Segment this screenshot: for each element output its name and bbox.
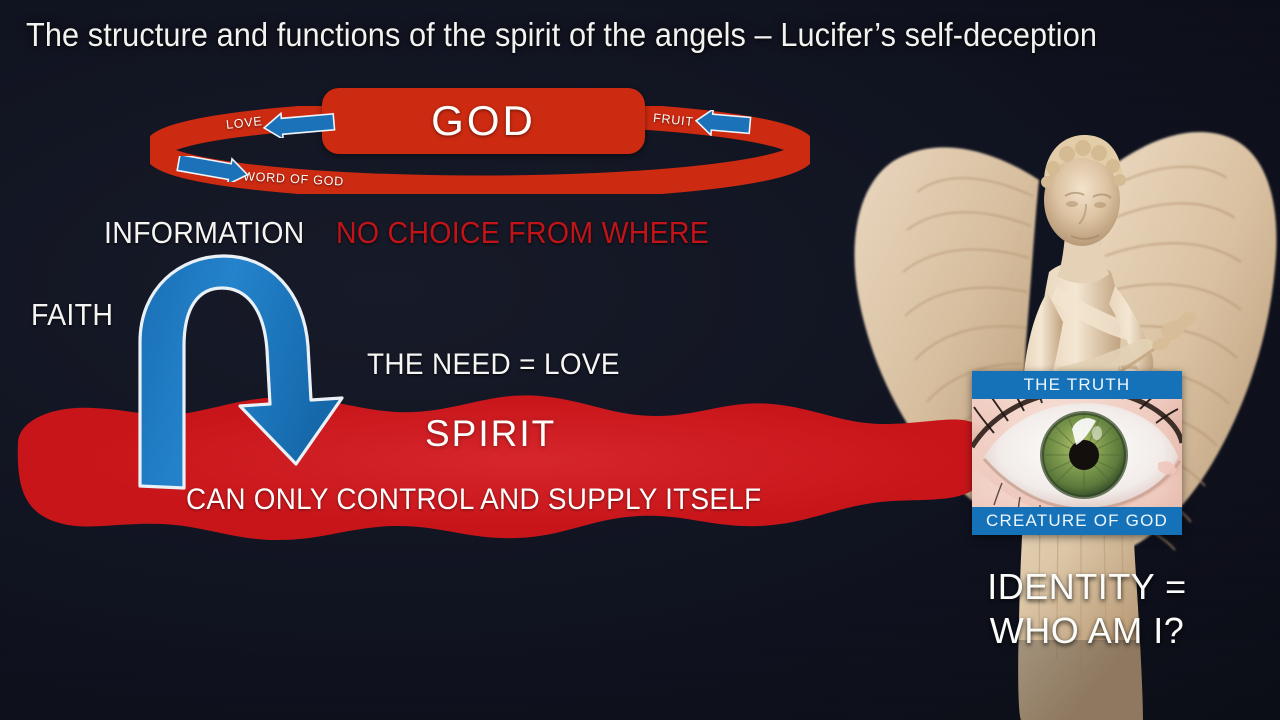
- faith-label: FAITH: [31, 297, 113, 333]
- information-row: INFORMATIONNO CHOICE FROM WHERE: [104, 215, 742, 251]
- need-label: THE NEED = LOVE: [367, 348, 620, 382]
- faith-curved-arrow-icon: [118, 250, 398, 490]
- slide-title: The structure and functions of the spiri…: [26, 17, 1170, 53]
- eye-panel-bottom-band: CREATURE OF GOD: [972, 507, 1182, 535]
- eye-panel-top-band: THE TRUTH: [972, 371, 1182, 399]
- information-label: INFORMATION: [104, 215, 305, 251]
- arrow-left-icon: [258, 112, 336, 138]
- no-choice-label: NO CHOICE FROM WHERE: [336, 215, 709, 251]
- identity-line-1: IDENTITY =: [972, 565, 1202, 609]
- truth-eye-panel: THE TRUTH CREATURE OF GOD: [972, 371, 1182, 535]
- identity-text: IDENTITY = WHO AM I?: [972, 565, 1202, 653]
- identity-line-2: WHO AM I?: [972, 609, 1202, 653]
- arrow-left-icon: [692, 110, 752, 136]
- slide-canvas: The structure and functions of the spiri…: [0, 0, 1280, 720]
- god-box: GOD: [322, 88, 645, 154]
- arrow-right-icon: [176, 156, 254, 182]
- god-label: GOD: [322, 97, 645, 145]
- spirit-label: SPIRIT: [425, 413, 556, 455]
